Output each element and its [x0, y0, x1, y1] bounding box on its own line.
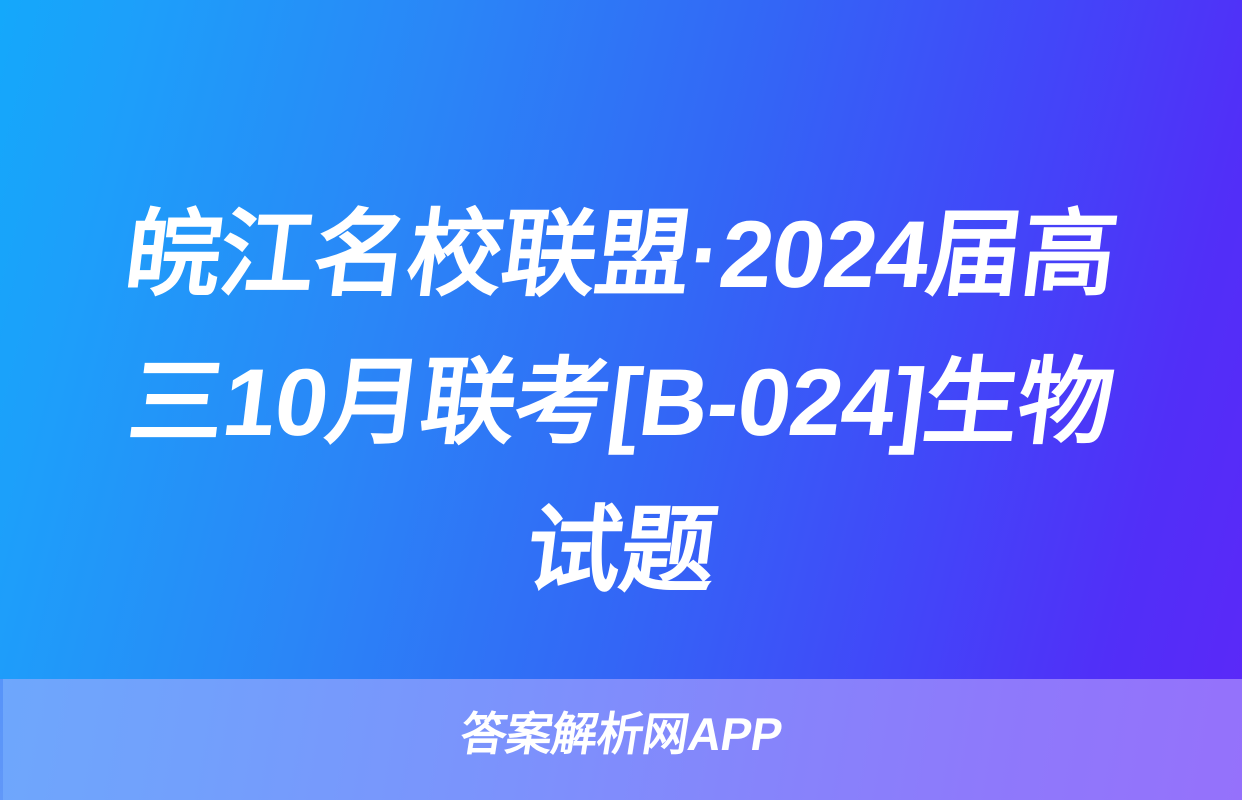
title-line-1: 皖江名校联盟·2024届高 — [25, 181, 1217, 329]
watermark-label: 答案解析网APP — [456, 705, 786, 763]
page-title: 皖江名校联盟·2024届高 三10月联考[B-024]生物 试题 — [0, 181, 1242, 625]
title-line-2: 三10月联考[B-024]生物 — [25, 329, 1217, 477]
watermark: 答案解析网APP — [0, 705, 1242, 763]
cover-page: 皖江名校联盟·2024届高 三10月联考[B-024]生物 试题 答案解析网AP… — [0, 0, 1242, 800]
title-line-3: 试题 — [25, 477, 1217, 625]
